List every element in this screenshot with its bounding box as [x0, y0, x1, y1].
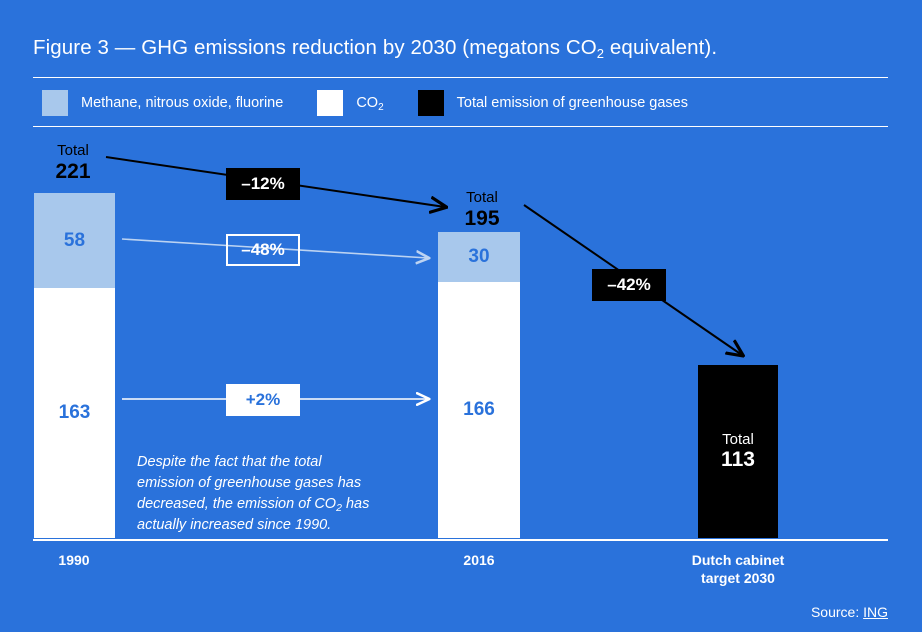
bar-1990: 58 163	[34, 193, 115, 538]
bar-1990-co2-value: 163	[59, 402, 91, 424]
bar-target-2030: Total 113	[698, 365, 778, 538]
category-label-target-2030-line1: Dutch cabinet	[692, 552, 785, 568]
badge-methane-change: –48%	[226, 234, 300, 266]
chart-note-line3-subscript: 2	[336, 502, 342, 514]
source-credit: Source: ING	[811, 604, 888, 620]
total-callout-1990-label: Total	[43, 143, 103, 160]
bar-2016: 30 166	[438, 232, 520, 538]
total-callout-1990: Total 221	[43, 143, 103, 183]
total-callout-2016-label: Total	[451, 190, 513, 207]
figure-container: Figure 3 — GHG emissions reduction by 20…	[0, 0, 922, 632]
bar-2016-methane-value: 30	[468, 246, 489, 268]
chart-note-line2: emission of greenhouse gases has	[137, 475, 361, 491]
bar-target-2030-total-value: 113	[721, 448, 755, 472]
chart-note-line3b: has	[342, 496, 369, 512]
category-label-2016: 2016	[429, 552, 529, 570]
category-label-target-2030: Dutch cabinet target 2030	[668, 552, 808, 587]
source-prefix: Source:	[811, 604, 863, 620]
bar-1990-segment-methane: 58	[34, 193, 115, 288]
bar-target-2030-total-label: Total	[721, 431, 755, 448]
source-link-ing[interactable]: ING	[863, 604, 888, 620]
bar-1990-segment-co2: 163	[34, 288, 115, 538]
badge-target-change: –42%	[592, 269, 666, 301]
badge-co2-change: +2%	[226, 384, 300, 416]
chart-note-line3a: decreased, the emission of CO	[137, 496, 336, 512]
plot-area: Total 221 58 163 1990 Total 195 30 166 2…	[0, 0, 922, 632]
total-callout-2016: Total 195	[451, 190, 513, 230]
chart-note: Despite the fact that the total emission…	[137, 452, 412, 536]
chart-note-line4: actually increased since 1990.	[137, 517, 331, 533]
bar-1990-methane-value: 58	[64, 230, 85, 252]
bar-2016-co2-value: 166	[463, 399, 495, 421]
chart-note-line1: Despite the fact that the total	[137, 454, 322, 470]
total-callout-1990-value: 221	[43, 160, 103, 183]
bar-2016-segment-methane: 30	[438, 232, 520, 282]
category-label-1990: 1990	[24, 552, 124, 570]
x-axis-line	[33, 539, 888, 541]
total-callout-2016-value: 195	[451, 207, 513, 230]
badge-total-change: –12%	[226, 168, 300, 200]
bar-target-2030-label: Total 113	[721, 431, 755, 472]
category-label-target-2030-line2: target 2030	[701, 570, 775, 586]
bar-2016-segment-co2: 166	[438, 282, 520, 538]
